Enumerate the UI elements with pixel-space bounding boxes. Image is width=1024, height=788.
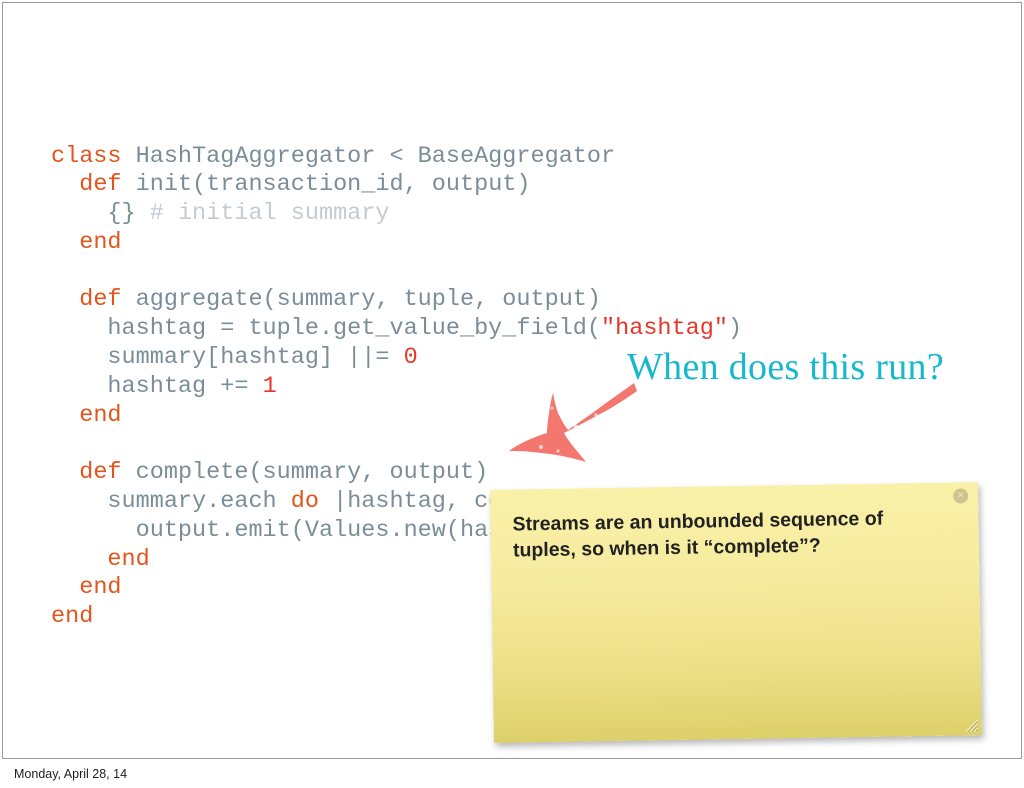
code-token: hashtag = tuple.get_value_by_field(	[107, 315, 601, 342]
code-token: 0	[404, 344, 418, 371]
code-token: def	[79, 171, 135, 198]
code-token: aggregate(summary, tuple, output)	[136, 286, 601, 313]
code-token: init(transaction_id, output)	[136, 171, 531, 198]
code-token: complete(summary, output)	[136, 459, 489, 486]
code-token: end	[79, 574, 121, 601]
resize-handle-icon[interactable]	[963, 716, 979, 732]
slide-canvas: class HashTagAggregator < BaseAggregator…	[2, 2, 1022, 759]
code-line: def aggregate(summary, tuple, output)	[51, 286, 742, 315]
code-token: class	[51, 143, 136, 170]
code-line: {} # initial summary	[51, 200, 742, 229]
code-token: end	[51, 603, 93, 630]
code-line: def init(transaction_id, output)	[51, 171, 742, 200]
footer-date: Monday, April 28, 14	[14, 767, 127, 781]
code-token: {}	[107, 200, 149, 227]
code-line: class HashTagAggregator < BaseAggregator	[51, 143, 742, 172]
code-token: end	[79, 402, 121, 429]
sticky-note-text: Streams are an unbounded sequence of tup…	[512, 505, 948, 564]
code-token: summary.each	[107, 488, 290, 515]
annotation-when-does-this-run: When does this run?	[627, 345, 944, 389]
code-token: # initial summary	[150, 200, 390, 227]
code-line: end	[51, 229, 742, 258]
code-line: hashtag = tuple.get_value_by_field("hash…	[51, 315, 742, 344]
code-token: 1	[263, 373, 277, 400]
code-token: def	[79, 286, 135, 313]
code-token: def	[79, 459, 135, 486]
code-token: end	[107, 546, 149, 573]
code-token: HashTagAggregator < BaseAggregator	[136, 143, 615, 170]
sticky-note[interactable]: × Streams are an unbounded sequence of t…	[490, 482, 982, 743]
close-icon[interactable]: ×	[953, 488, 968, 503]
code-token: end	[79, 229, 121, 256]
code-line	[51, 258, 742, 287]
code-token: "hashtag"	[601, 315, 728, 342]
hand-drawn-arrow-icon	[506, 375, 641, 470]
code-token: do	[291, 488, 319, 515]
code-token: hashtag +=	[107, 373, 262, 400]
code-token: summary[hashtag] ||=	[107, 344, 403, 371]
code-token: )	[728, 315, 742, 342]
